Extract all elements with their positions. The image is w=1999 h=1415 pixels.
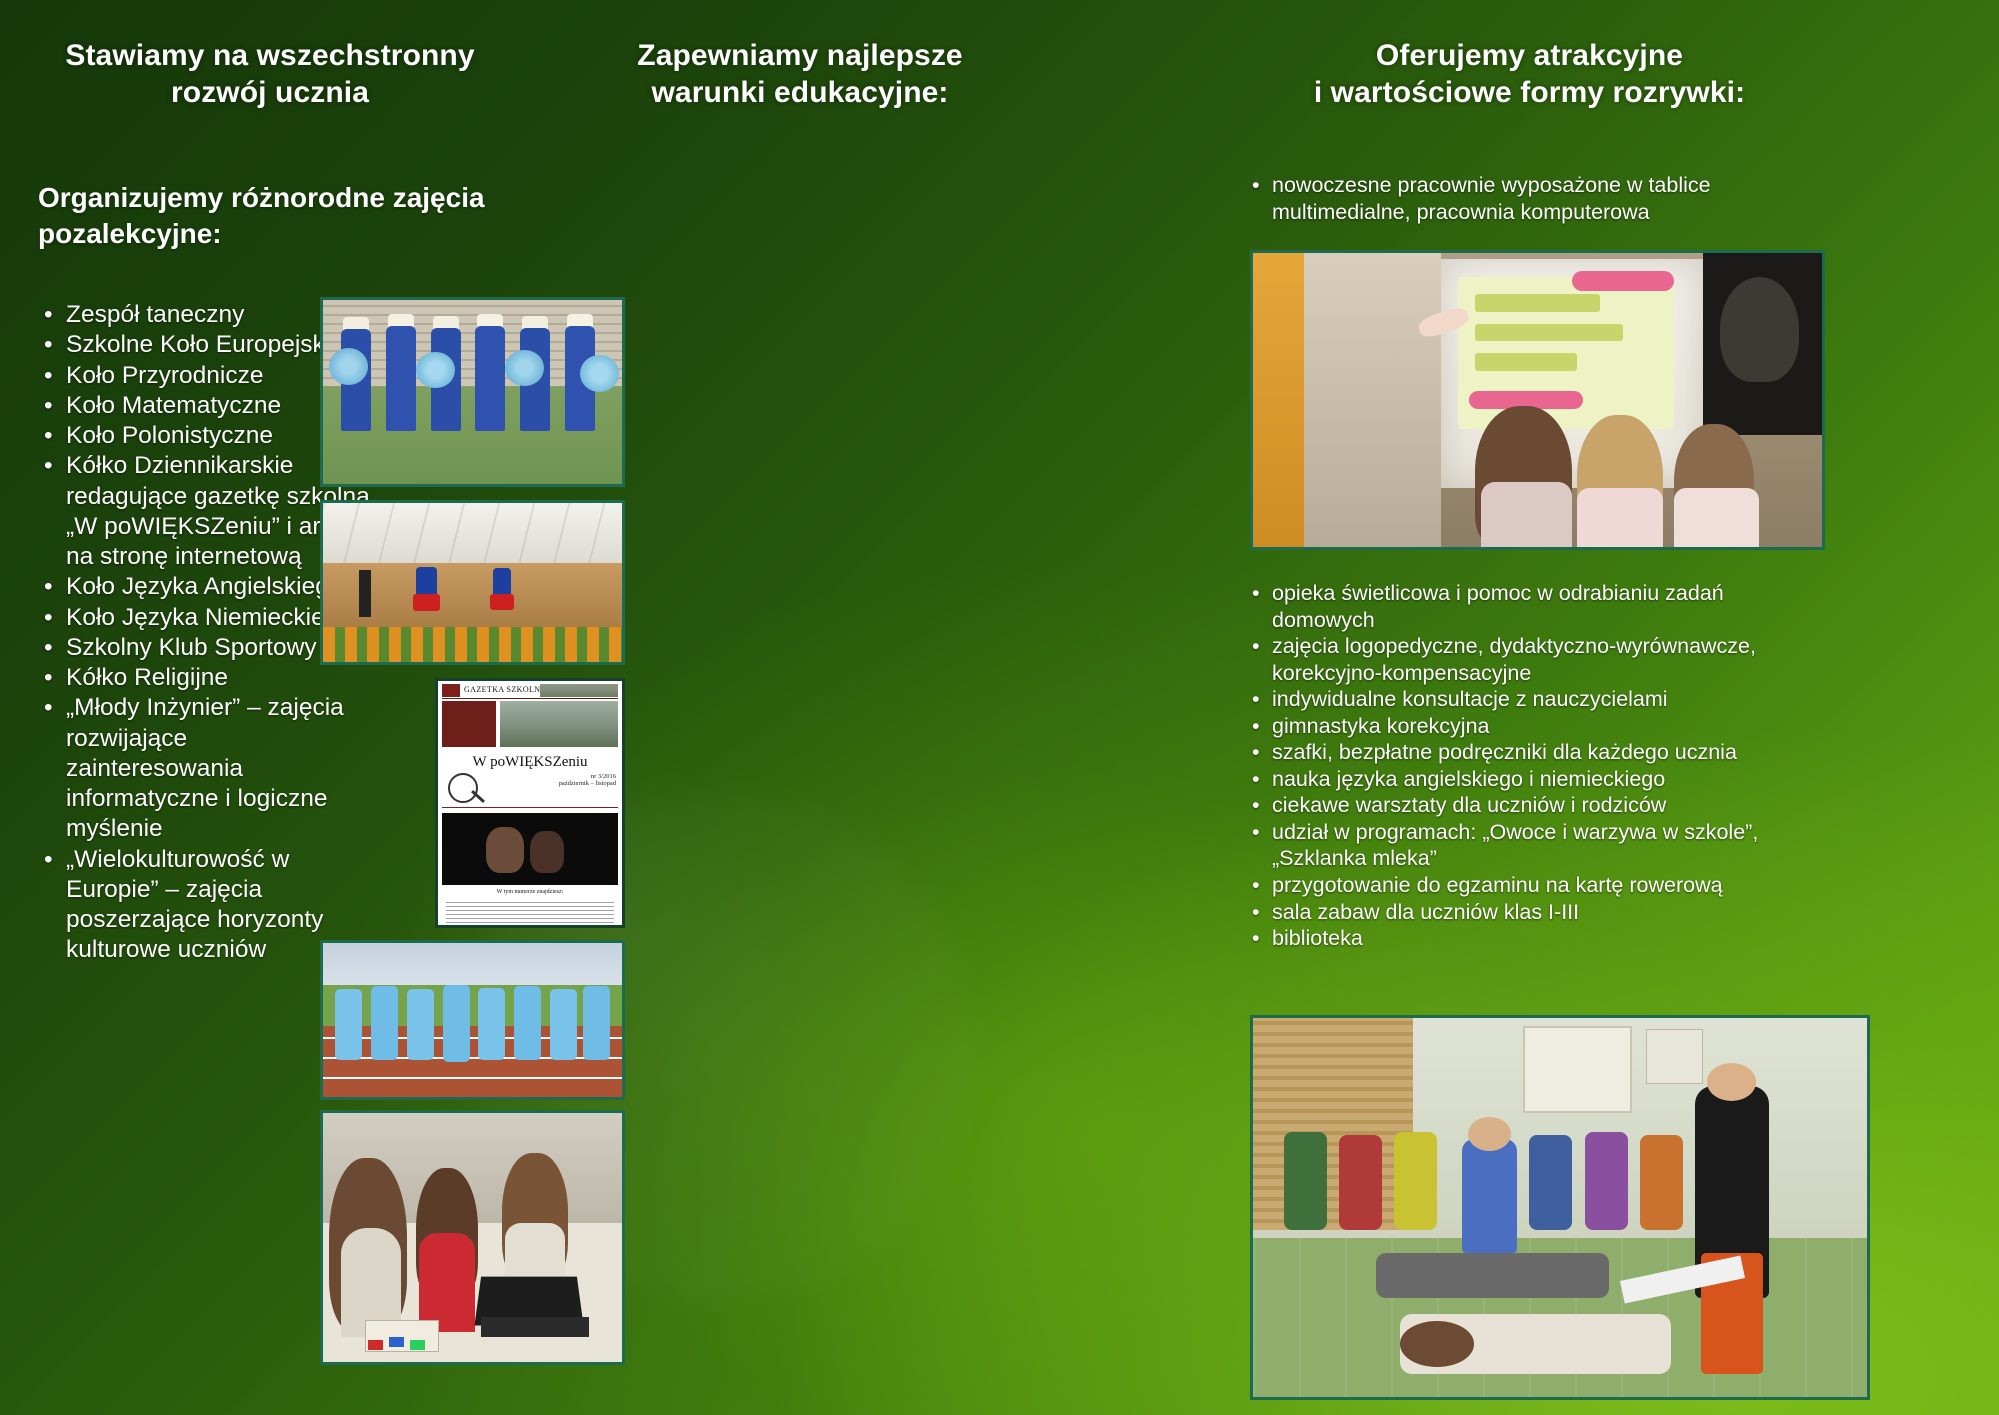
left-activities-list: •Zespół taneczny •Szkolne Koło Europejsk… xyxy=(44,300,344,966)
bullet-glyph: • xyxy=(44,633,53,663)
list-item: •Koło Polonistyczne xyxy=(44,421,344,451)
list-item: •Koło Przyrodnicze xyxy=(44,361,344,391)
left-column-subheading: Organizujemy różnorodne zajęcia pozalekc… xyxy=(38,180,508,253)
right-column-title: Oferujemy atrakcyjne i wartościowe formy… xyxy=(1060,38,1999,111)
bullet-glyph: • xyxy=(44,330,53,360)
bullet-glyph: • xyxy=(44,361,53,391)
middle-column-title: Zapewniamy najlepsze warunki edukacyjne: xyxy=(540,38,1060,111)
bullet-glyph: • xyxy=(44,300,53,330)
left-title-line-2: rozwój ucznia xyxy=(171,76,369,109)
list-item: •Szkolne Koło Europejskie xyxy=(44,330,344,360)
middle-title-line-1: Zapewniamy najlepsze xyxy=(637,39,962,72)
bullet-glyph: • xyxy=(44,421,53,451)
poster-columns: Stawiamy na wszechstronny rozwój ucznia … xyxy=(0,0,1999,1415)
column-middle: Zapewniamy najlepsze warunki edukacyjne:… xyxy=(540,0,1060,1415)
bullet-glyph: • xyxy=(44,693,53,723)
bullet-glyph: • xyxy=(44,845,53,875)
left-column-title: Stawiamy na wszechstronny rozwój ucznia xyxy=(30,38,510,111)
left-title-line-1: Stawiamy na wszechstronny xyxy=(65,39,474,72)
bullet-glyph: • xyxy=(44,391,53,421)
bullet-glyph: • xyxy=(44,603,53,633)
column-left: Stawiamy na wszechstronny rozwój ucznia … xyxy=(0,0,540,1415)
middle-title-line-2: warunki edukacyjne: xyxy=(651,76,948,109)
list-item: •Zespół taneczny xyxy=(44,300,344,330)
right-title-line-2: i wartościowe formy rozrywki: xyxy=(1314,76,1745,109)
left-subhead-line-1: Organizujemy różnorodne zajęcia xyxy=(38,182,485,213)
bullet-glyph: • xyxy=(44,663,53,693)
column-right: Oferujemy atrakcyjne i wartościowe formy… xyxy=(1060,0,1999,1415)
bullet-glyph: • xyxy=(44,572,53,602)
list-item: •Koło Matematyczne xyxy=(44,391,344,421)
list-item: •„Młody Inżynier” – zajęcia rozwijające … xyxy=(44,693,366,844)
list-item: •Kółko Religijne xyxy=(44,663,344,693)
bullet-glyph: • xyxy=(44,451,53,481)
left-subhead-line-2: pozalekcyjne: xyxy=(38,218,222,249)
list-item: •„Wielokulturowość w Europie” – zajęcia … xyxy=(44,845,336,966)
newspaper-masthead: GAZETKA SZKOLNA xyxy=(464,685,547,694)
right-title-line-1: Oferujemy atrakcyjne xyxy=(1376,39,1683,72)
